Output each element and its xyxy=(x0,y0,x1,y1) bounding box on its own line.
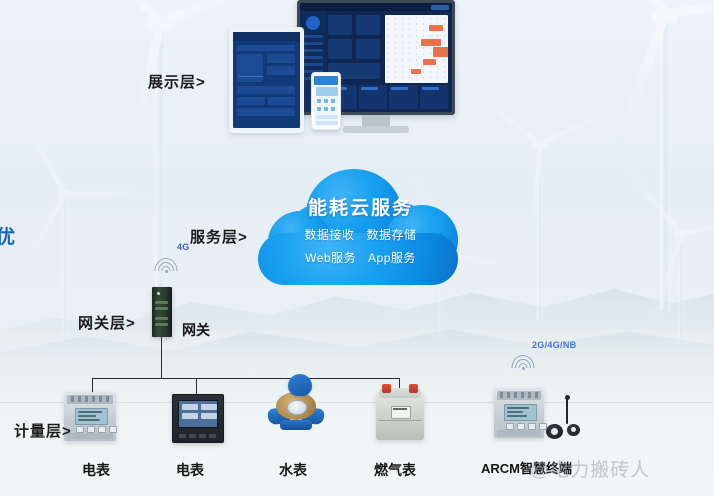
layer-label-gateway: 网关层> xyxy=(78,312,136,333)
tablet-screen xyxy=(233,32,300,128)
monitor-stand-foot xyxy=(343,126,409,133)
network-label-uplink: 4G xyxy=(177,242,190,252)
antenna-icon xyxy=(566,398,568,424)
cloud-service-3: Web服务 xyxy=(305,249,356,266)
cloud-service-node: 能耗云服务 数据接收 数据存储 Web服务 App服务 xyxy=(258,163,463,288)
cloud-service-1: 数据接收 xyxy=(304,226,354,243)
device-label-meter-water: 水表 xyxy=(279,460,307,480)
layer-label-metering: 计量层> xyxy=(14,420,72,441)
layer-label-service: 服务层> xyxy=(190,226,248,247)
cloud-service-2: 数据存储 xyxy=(367,226,417,243)
tablet-device xyxy=(229,27,304,133)
smartphone-device xyxy=(311,72,341,130)
meter-water-device xyxy=(268,374,324,440)
dashboard-charts xyxy=(328,85,448,109)
gateway-device xyxy=(152,287,172,337)
connector-bus xyxy=(92,378,400,379)
architecture-diagram: 能耗云服务 数据接收 数据存储 Web服务 App服务 xyxy=(0,0,714,496)
cloud-service-4: App服务 xyxy=(368,249,416,266)
wind-turbine-icon xyxy=(656,230,706,340)
meter-gas-device xyxy=(376,384,424,440)
meter-electric-panel-device xyxy=(172,394,222,441)
network-label-downlink: 2G/4G/NB xyxy=(532,340,576,350)
wireless-signal-icon xyxy=(155,258,177,273)
device-label-gateway: 网关 xyxy=(182,320,210,340)
wind-turbine-icon xyxy=(500,140,580,320)
device-label-meter-gas: 燃气表 xyxy=(374,460,416,480)
edge-partial-text: 优 xyxy=(0,222,15,249)
wireless-signal-icon xyxy=(512,355,534,370)
dashboard-map xyxy=(385,15,448,83)
connector-gateway-trunk xyxy=(161,337,162,379)
phone-screen xyxy=(314,76,338,126)
cloud-title: 能耗云服务 xyxy=(308,193,413,220)
device-label-meter-electric-din: 电表 xyxy=(82,460,110,480)
terminal-arcm-device xyxy=(494,388,544,438)
current-transformer-icon xyxy=(567,424,580,436)
current-transformer-icon xyxy=(546,424,563,439)
watermark: @电力搬砖人 xyxy=(530,455,650,482)
device-label-meter-electric-panel: 电表 xyxy=(176,460,204,480)
layer-label-display: 展示层> xyxy=(148,71,206,92)
dashboard-avatar xyxy=(306,16,320,30)
